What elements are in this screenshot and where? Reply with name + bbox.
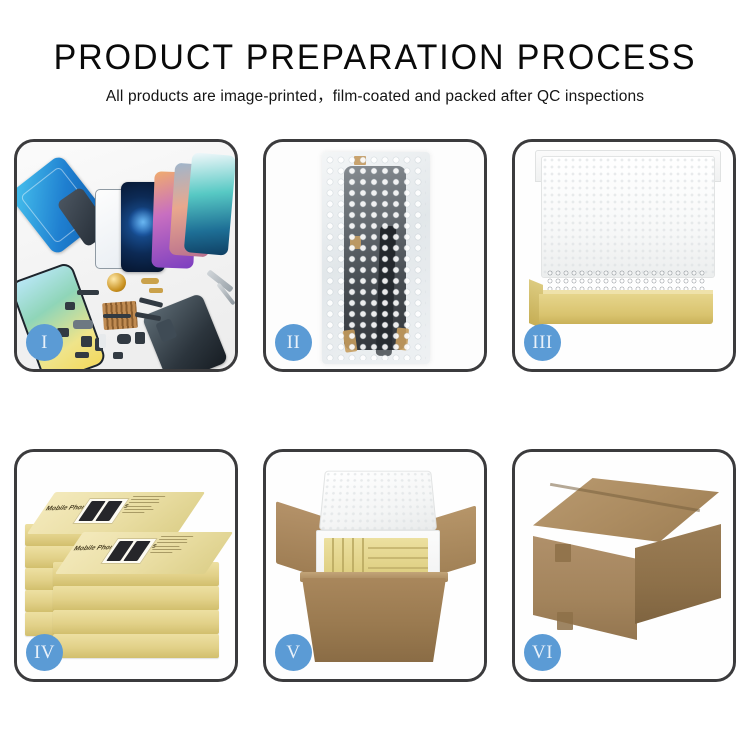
- step-panel-5: V: [263, 449, 487, 682]
- step-panel-4: Mobile Phone Spare Parts Mobile Phone Sp…: [14, 449, 238, 682]
- page-title: PRODUCT PREPARATION PROCESS: [11, 38, 739, 78]
- step-panel-6: VI: [512, 449, 736, 682]
- component-icon: [77, 290, 99, 295]
- component-icon: [117, 334, 131, 344]
- bubble-wrap-bag-icon: [322, 152, 430, 364]
- gold-component-icon: [107, 273, 126, 292]
- step-badge-5: V: [275, 634, 312, 671]
- yellow-box-front-icon: [539, 294, 713, 324]
- page-subtitle: All products are image-printed，film-coat…: [0, 87, 750, 107]
- header: PRODUCT PREPARATION PROCESS All products…: [0, 38, 750, 107]
- step-panel-1: I: [14, 139, 238, 372]
- component-icon: [65, 302, 75, 310]
- component-icon: [75, 352, 89, 358]
- component-icon: [81, 336, 92, 347]
- component-icon: [113, 352, 123, 359]
- component-icon: [103, 314, 131, 318]
- product-preparation-infographic: PRODUCT PREPARATION PROCESS All products…: [0, 0, 750, 750]
- carton-body-icon: [302, 578, 446, 662]
- step-panel-3: III: [512, 139, 736, 372]
- process-steps-grid: I II: [14, 139, 736, 682]
- stacked-box: [53, 610, 219, 634]
- step-badge-3: III: [524, 324, 561, 361]
- stacked-box: [53, 586, 219, 610]
- carton-tape-icon: [557, 612, 573, 630]
- component-icon: [135, 332, 145, 344]
- teal-phone-icon: [184, 152, 235, 255]
- foam-sheet-icon: [541, 156, 715, 278]
- carton-tape-icon: [555, 544, 571, 562]
- step-badge-1: I: [26, 324, 63, 361]
- step-badge-2: II: [275, 324, 312, 361]
- component-icon: [149, 288, 163, 293]
- step-badge-6: VI: [524, 634, 561, 671]
- stacked-box: [53, 634, 219, 658]
- bubble-texture: [326, 156, 426, 360]
- foam-cooler-lid-icon: [319, 471, 437, 531]
- component-icon: [73, 320, 93, 329]
- component-icon: [141, 278, 159, 284]
- step-badge-4: IV: [26, 634, 63, 671]
- component-icon: [99, 334, 106, 348]
- step-panel-2: II: [263, 139, 487, 372]
